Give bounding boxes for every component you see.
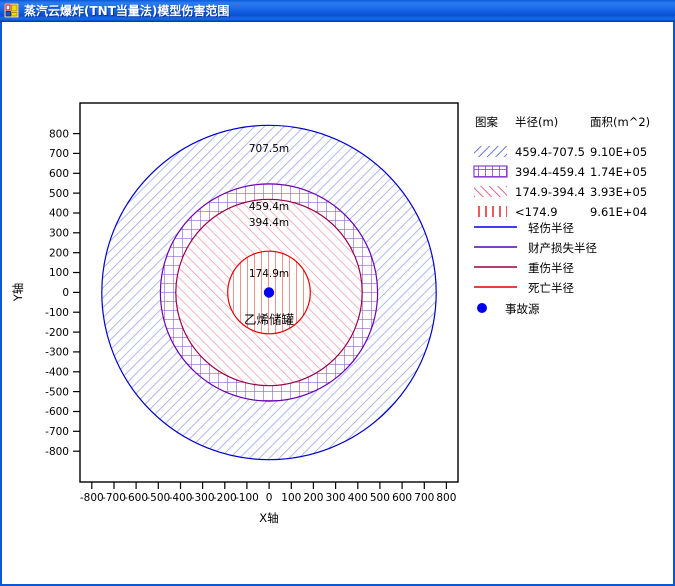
- y-tick-label: -200: [45, 327, 69, 339]
- x-tick-label: 700: [414, 492, 434, 504]
- legend-swatch-forward-diagonal-blue: [474, 146, 507, 157]
- legend-label-light-injury: 轻伤半径: [528, 221, 574, 235]
- legend-marker-source-dot: [477, 303, 487, 313]
- radius-label-707: 707.5m: [249, 143, 289, 155]
- x-tick-label: -300: [191, 492, 215, 504]
- x-tick-label: 300: [326, 492, 346, 504]
- legend-pattern-row: 459.4-707.5 9.10E+05: [474, 145, 647, 159]
- legend-swatch-crosshatch-purple: [474, 166, 507, 177]
- x-tick-label: -200: [213, 492, 237, 504]
- y-tick-label: 500: [49, 188, 69, 200]
- x-tick-label: -100: [235, 492, 259, 504]
- legend-line-row: 财产损失半径: [474, 241, 597, 255]
- legend-line-row: 轻伤半径: [474, 221, 574, 235]
- legend-swatch-vertical-red: [474, 206, 507, 217]
- x-axis: -800 -700 -600 -500 -400 -300 -200 -100 …: [80, 482, 457, 525]
- x-tick-label: -600: [124, 492, 148, 504]
- x-tick-label: -800: [80, 492, 104, 504]
- figure-canvas: 707.5m 459.4m 394.4m 174.9m 乙烯储罐: [2, 22, 673, 582]
- x-axis-tick-labels: -800 -700 -600 -500 -400 -300 -200 -100 …: [80, 492, 457, 504]
- x-tick-label: 100: [281, 492, 301, 504]
- legend-label-property-loss: 财产损失半径: [528, 241, 597, 255]
- y-tick-label: 800: [49, 128, 69, 140]
- x-tick-label: 400: [348, 492, 368, 504]
- legend-area-2: 1.74E+05: [590, 165, 647, 179]
- legend-area-3: 3.93E+05: [590, 185, 647, 199]
- legend-area-4: 9.61E+04: [590, 205, 647, 219]
- legend-range-2: 394.4-459.4: [515, 165, 585, 179]
- legend-header-pattern: 图案: [475, 115, 498, 129]
- legend-header-radius: 半径(m): [515, 115, 558, 129]
- x-tick-label: 800: [436, 492, 456, 504]
- y-tick-label: -800: [45, 446, 69, 458]
- x-tick-label: 200: [303, 492, 323, 504]
- source-label: 乙烯储罐: [244, 312, 295, 327]
- radius-label-394: 394.4m: [249, 217, 289, 229]
- x-axis-label: X轴: [259, 511, 278, 525]
- radius-label-174: 174.9m: [249, 268, 289, 280]
- y-tick-label: -100: [45, 307, 69, 319]
- title-bar: 蒸汽云爆炸(TNT当量法)模型伤害范围: [0, 0, 675, 22]
- y-tick-label: 600: [49, 168, 69, 180]
- legend-line-row: 重伤半径: [474, 261, 574, 275]
- legend-swatch-back-diagonal-pink: [474, 186, 507, 197]
- legend-pattern-row: <174.9 9.61E+04: [474, 205, 647, 219]
- legend-marker-row: 事故源: [477, 302, 540, 316]
- legend-pattern-row: 174.9-394.4 3.93E+05: [474, 185, 647, 199]
- client-area: 707.5m 459.4m 394.4m 174.9m 乙烯储罐: [0, 22, 675, 586]
- legend-label-serious-injury: 重伤半径: [528, 261, 574, 275]
- legend-range-4: <174.9: [515, 205, 558, 219]
- radius-label-459: 459.4m: [249, 201, 289, 213]
- y-axis-ticks: [73, 134, 80, 452]
- legend-line-row: 死亡半径: [474, 281, 574, 295]
- x-tick-label: -500: [146, 492, 170, 504]
- app-chart-icon: [4, 3, 19, 18]
- y-tick-label: 700: [49, 148, 69, 160]
- y-axis-label: Y轴: [11, 283, 25, 303]
- x-tick-label: 500: [370, 492, 390, 504]
- y-tick-label: 300: [49, 228, 69, 240]
- legend-range-3: 174.9-394.4: [515, 185, 585, 199]
- y-tick-label: -300: [45, 347, 69, 359]
- y-tick-label: -700: [45, 426, 69, 438]
- y-tick-label: 400: [49, 208, 69, 220]
- y-tick-label: -500: [45, 386, 69, 398]
- source-dot[interactable]: [264, 287, 274, 297]
- x-tick-label: -400: [169, 492, 193, 504]
- legend-header-area: 面积(m^2): [590, 115, 650, 129]
- y-axis-tick-labels: 800 700 600 500 400 300 200 100 0 -100 -…: [45, 128, 69, 458]
- window-title: 蒸汽云爆炸(TNT当量法)模型伤害范围: [24, 2, 229, 19]
- legend-label-death: 死亡半径: [528, 281, 574, 295]
- y-tick-label: 200: [49, 247, 69, 259]
- legend-area-1: 9.10E+05: [590, 145, 647, 159]
- damage-range-figure: 707.5m 459.4m 394.4m 174.9m 乙烯储罐: [2, 22, 673, 582]
- x-tick-label: 0: [266, 492, 273, 504]
- y-axis: 800 700 600 500 400 300 200 100 0 -100 -…: [11, 128, 80, 458]
- y-tick-label: -400: [45, 367, 69, 379]
- legend: 图案 半径(m) 面积(m^2) 459.4-707.5 9.10E+05 39…: [474, 115, 650, 316]
- legend-pattern-row: 394.4-459.4 1.74E+05: [474, 165, 647, 179]
- x-tick-label: 600: [392, 492, 412, 504]
- application-window: 蒸汽云爆炸(TNT当量法)模型伤害范围: [0, 0, 675, 586]
- y-tick-label: 0: [62, 287, 69, 299]
- x-tick-label: -700: [102, 492, 126, 504]
- x-axis-ticks: [92, 482, 447, 489]
- legend-range-1: 459.4-707.5: [515, 145, 585, 159]
- legend-label-accident-source: 事故源: [505, 302, 540, 316]
- y-tick-label: -600: [45, 406, 69, 418]
- y-tick-label: 100: [49, 267, 69, 279]
